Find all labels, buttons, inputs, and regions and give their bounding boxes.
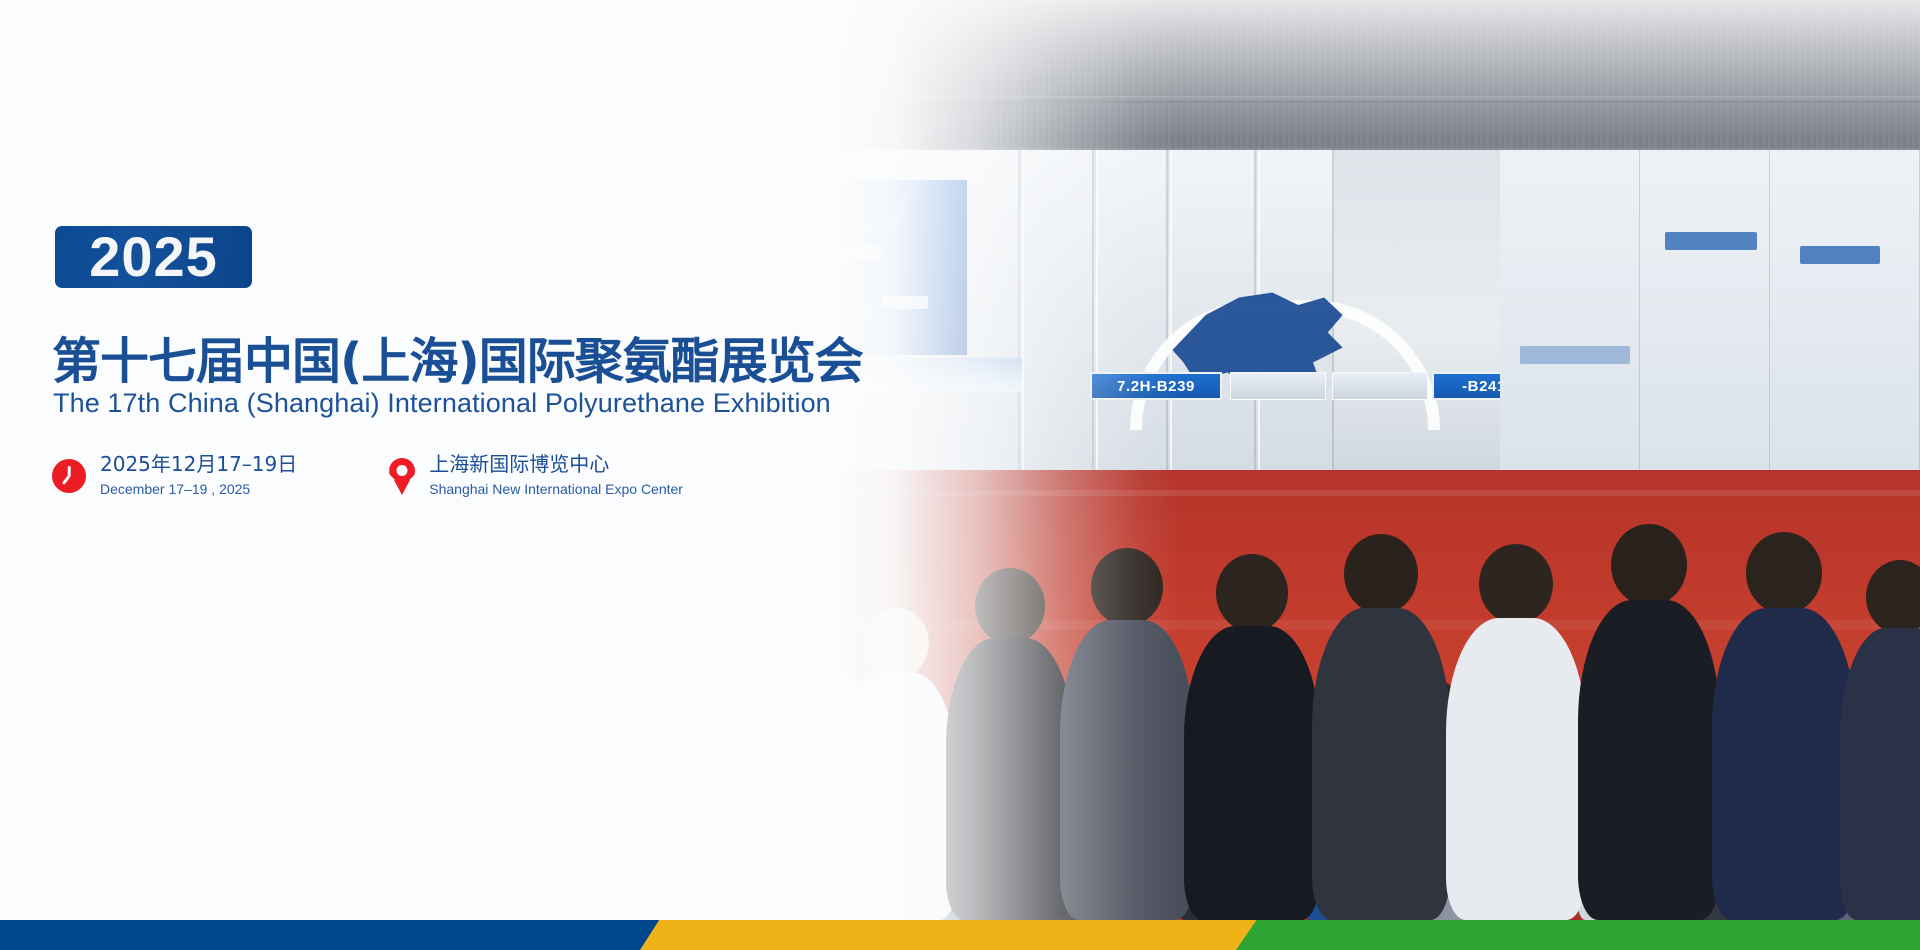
event-date-cn: 2025年12月17–19日 [100, 452, 297, 477]
crowd-person-foreground [838, 608, 956, 920]
crowd-person-foreground [1312, 534, 1450, 920]
crowd-person-foreground [1184, 554, 1320, 920]
crowd-person-foreground [1578, 524, 1720, 920]
event-venue-text: 上海新国际博览中心 Shanghai New International Exp… [429, 452, 683, 500]
event-date-card: 2025年12月17–19日 December 17–19 , 2025 [52, 452, 297, 500]
event-venue-en: Shanghai New International Expo Center [429, 479, 683, 500]
bar-segment-yellow [640, 920, 1280, 950]
event-venue-cn: 上海新国际博览中心 [429, 452, 683, 477]
bar-segment-green [1236, 920, 1920, 950]
event-date-text: 2025年12月17–19日 December 17–19 , 2025 [100, 452, 297, 500]
event-date-en: December 17–19 , 2025 [100, 479, 297, 500]
crowd-person-foreground [1060, 548, 1194, 920]
page-title-cn: 第十七届中国(上海)国际聚氨酯展览会 [52, 322, 863, 393]
exhibition-banner: 7.2馆 Hall 展览馆 / 展商服务中心 洗手间 Restroom 技术股份… [0, 0, 1920, 950]
map-pin-icon [389, 458, 415, 494]
visitor-crowd [760, 300, 1920, 920]
crowd-person-foreground [946, 568, 1074, 920]
page-title-en: The 17th China (Shanghai) International … [53, 388, 831, 419]
year-badge: 2025 [55, 226, 252, 288]
bar-segment-blue [0, 920, 660, 950]
event-info-row: 2025年12月17–19日 December 17–19 , 2025 上海新… [52, 452, 683, 500]
ceiling-beam [760, 96, 1920, 103]
clock-icon [52, 459, 86, 493]
exhibition-hall-photo: 7.2馆 Hall 展览馆 / 展商服务中心 洗手间 Restroom 技术股份… [760, 0, 1920, 920]
crowd-person-foreground [1446, 544, 1586, 920]
banner-content: 2025 第十七届中国(上海)国际聚氨酯展览会 The 17th China (… [0, 0, 820, 920]
crowd-person-foreground [1840, 560, 1920, 920]
bottom-color-bar [0, 920, 1920, 950]
far-booth-logo [1800, 246, 1880, 264]
far-booth-logo [1665, 232, 1757, 250]
crowd-person-foreground [1712, 532, 1856, 920]
event-venue-card: 上海新国际博览中心 Shanghai New International Exp… [389, 452, 683, 500]
